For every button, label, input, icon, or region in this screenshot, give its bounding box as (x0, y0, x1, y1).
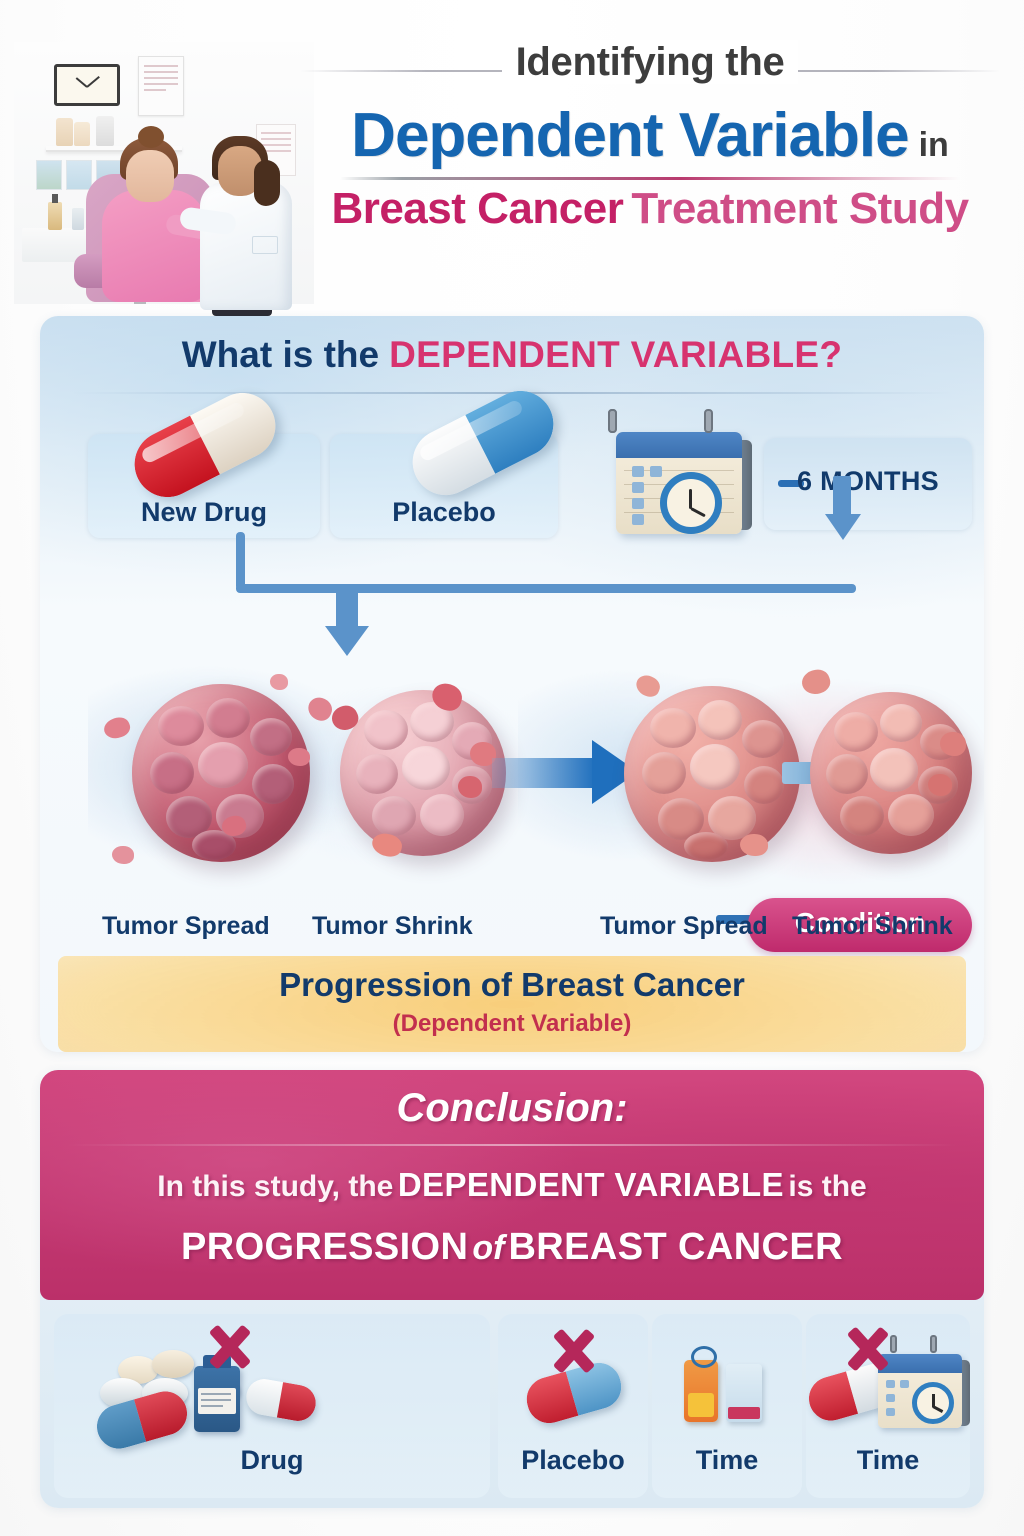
excluded-variables-row: Drug Placebo Time (40, 1304, 984, 1508)
arrow-down-right-icon (825, 514, 861, 540)
red-white-capsule-icon (123, 382, 287, 509)
doctor-ponytail (254, 160, 280, 206)
progression-arrow-icon (492, 740, 638, 804)
tumor-label-spread-left: Tumor Spread (102, 912, 270, 941)
conclusion-line-1: In this study, the DEPENDENT VARIABLE is… (40, 1166, 984, 1204)
title-in-word: in (919, 126, 949, 164)
conclusion-divider (66, 1144, 958, 1146)
sanitizer-bottle-icon (72, 208, 84, 230)
page-title: Identifying the Dependent Variablein Bre… (300, 40, 1000, 234)
conclusion-text-a: In this study, the (157, 1170, 393, 1203)
conclusion-text-b: is the (788, 1170, 866, 1203)
excluded-label-placebo: Placebo (498, 1445, 648, 1476)
tumor-fragment (940, 732, 966, 756)
medical-chart-icon (138, 56, 184, 116)
title-divider (340, 177, 960, 180)
option-card-placebo[interactable]: Placebo (330, 434, 558, 538)
tumor-label-shrink-right: Tumor Shrink (792, 912, 953, 941)
x-mark-icon (206, 1324, 252, 1370)
tumor-mass-shrink-left (340, 690, 506, 856)
x-mark-icon (844, 1326, 890, 1372)
banner-sub-text: (Dependent Variable) (58, 1010, 966, 1038)
doctor-lab-coat (200, 182, 292, 310)
patient-hair-bun (138, 126, 164, 148)
tumor-mass-spread-left (132, 684, 310, 862)
supply-jar (74, 122, 90, 146)
arrow-down-left-icon (325, 626, 369, 656)
heading-prefix: What is the (182, 334, 379, 375)
duration-label: 6 MONTHS (764, 466, 972, 497)
tumor-mass-shrink-right (810, 692, 972, 854)
conclusion-breast-cancer: BREAST CANCER (508, 1226, 843, 1268)
heading-highlight: DEPENDENT VARIABLE? (389, 334, 842, 375)
conclusion-progression: PROGRESSION (181, 1226, 468, 1268)
tumor-comparison-stage (40, 656, 984, 916)
banner-main-text: Progression of Breast Cancer (58, 966, 966, 1004)
tumor-mass-spread-right (624, 686, 800, 862)
excluded-label-time-flask: Time (652, 1445, 802, 1476)
conclusion-title: Conclusion: (40, 1086, 984, 1131)
title-dependent-variable: Dependent Variable (351, 101, 908, 170)
title-line-1: Identifying the (300, 40, 1000, 98)
dependent-variable-banner: Progression of Breast Cancer (Dependent … (58, 956, 966, 1052)
wall-picture (36, 160, 62, 190)
excluded-card-placebo[interactable]: Placebo (498, 1314, 648, 1498)
tumor-labels-row: Tumor Spread Tumor Shrink Tumor Spread T… (40, 912, 984, 952)
title-treatment-study: Treatment Study (631, 184, 968, 233)
main-panel: What is theDEPENDENT VARIABLE? New Drug … (40, 316, 984, 1052)
conclusion-dependent-variable: DEPENDENT VARIABLE (398, 1166, 784, 1203)
header: Identifying the Dependent Variablein Bre… (0, 0, 1024, 308)
connector-vertical-drug (236, 532, 245, 590)
excluded-card-time-calendar[interactable]: Time (806, 1314, 970, 1498)
tumor-fragment (112, 846, 134, 864)
conclusion-line-2: PROGRESSIONofBREAST CANCER (40, 1226, 984, 1269)
option-card-new-drug[interactable]: New Drug (88, 434, 320, 538)
option-label-placebo: Placebo (330, 497, 558, 528)
option-label-new-drug: New Drug (88, 497, 320, 528)
title-line-1-text: Identifying the (502, 40, 799, 84)
excluded-card-drug[interactable]: Drug (54, 1314, 490, 1498)
patient-head (126, 150, 174, 202)
wall-picture (66, 160, 92, 190)
arrow-stem-right (833, 476, 851, 518)
main-panel-heading: What is theDEPENDENT VARIABLE? (40, 316, 984, 400)
excluded-label-time-calendar: Time (806, 1445, 970, 1476)
doctor-patient-consultation-illustration (14, 42, 314, 304)
lab-coat-pocket (252, 236, 278, 254)
title-breast-cancer: Breast Cancer (331, 184, 623, 233)
duration-card[interactable]: 6 MONTHS (764, 438, 972, 530)
calendar-clock-icon (608, 418, 756, 538)
dispenser-bottle-icon (48, 202, 62, 230)
conclusion-of: of (472, 1229, 504, 1267)
flask-and-glass-icon (684, 1360, 718, 1422)
arrow-stem-left (336, 584, 358, 630)
excluded-card-time-flask[interactable]: Time (652, 1314, 802, 1498)
excluded-label-drug: Drug (54, 1445, 490, 1476)
measuring-glass-icon (726, 1364, 762, 1422)
tumor-label-spread-right: Tumor Spread (600, 912, 768, 941)
tumor-fragment (740, 834, 768, 856)
title-line-2: Dependent Variablein (300, 100, 1000, 171)
conclusion-panel: Conclusion: In this study, the DEPENDENT… (40, 1070, 984, 1508)
title-line-3: Breast CancerTreatment Study (300, 184, 1000, 234)
tumor-label-shrink-left: Tumor Shrink (312, 912, 473, 941)
infographic-page: Identifying the Dependent Variablein Bre… (0, 0, 1024, 1536)
supply-jar (96, 116, 114, 146)
conclusion-banner: Conclusion: In this study, the DEPENDENT… (40, 1070, 984, 1300)
wall-clock-icon (54, 64, 120, 106)
x-mark-icon (550, 1328, 596, 1374)
tumor-fragment (288, 748, 310, 766)
tumor-fragment (270, 674, 288, 690)
tumor-fragment (928, 774, 952, 796)
supply-jar (56, 118, 73, 146)
connector-horizontal (236, 584, 856, 593)
tumor-fragment (458, 776, 482, 798)
